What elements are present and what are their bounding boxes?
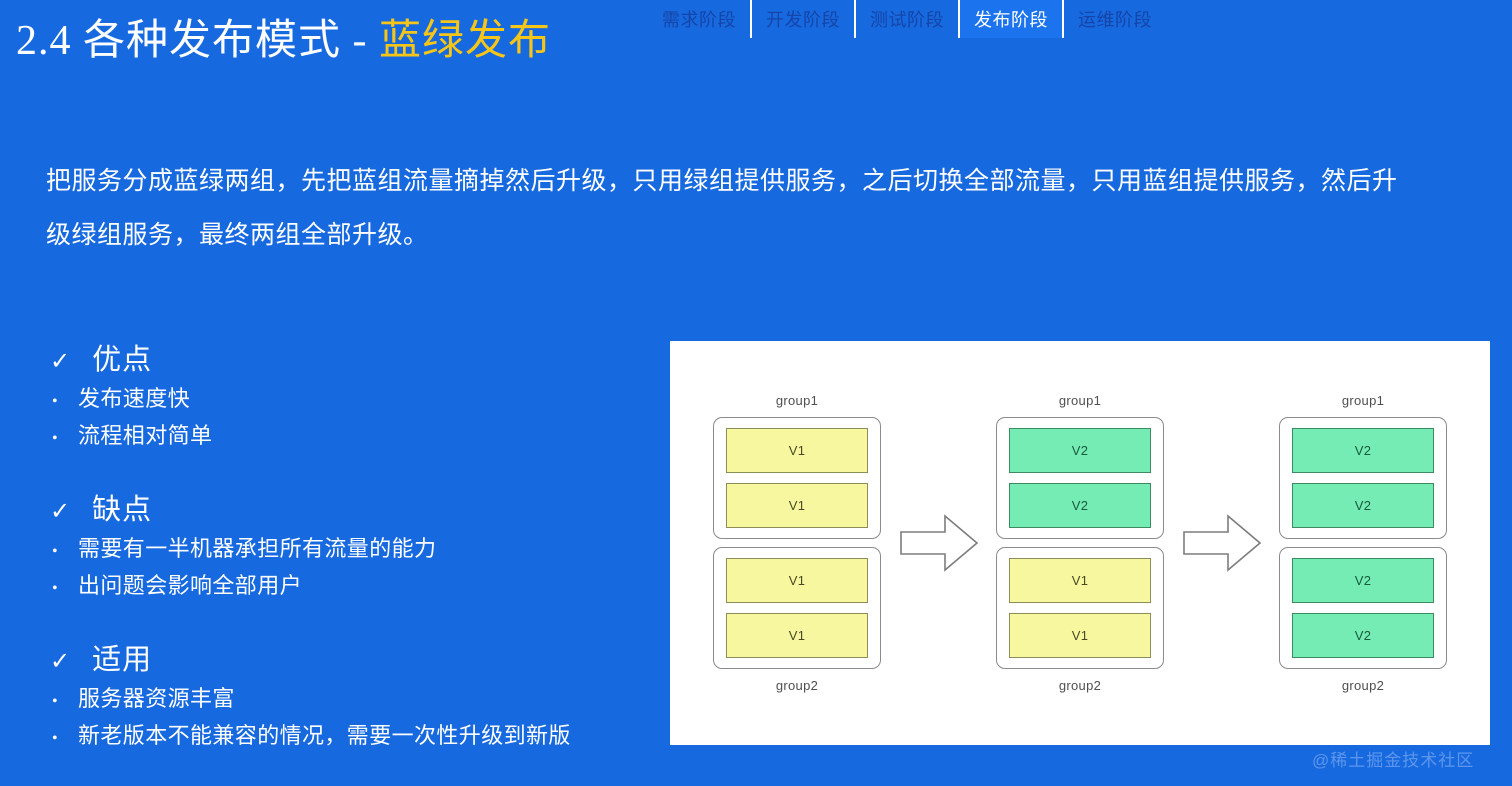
service-node: V1: [726, 483, 868, 528]
flow-arrow-1: [896, 512, 982, 574]
service-node: V2: [1292, 483, 1434, 528]
arrow-right-icon: [1182, 512, 1262, 574]
list-item: • 出问题会影响全部用户: [50, 571, 436, 604]
nav-tab-label: 开发阶段: [766, 6, 840, 32]
section-title: 适用: [92, 636, 152, 678]
group2-box: V2 V2: [1279, 547, 1447, 669]
diagram-stage-2: group1 V2 V2 V1 V1 group2: [987, 393, 1173, 693]
bullet-list: • 服务器资源丰富 • 新老版本不能兼容的情况，需要一次性升级到新版: [50, 684, 571, 754]
slide-root: 需求阶段 开发阶段 测试阶段 发布阶段 运维阶段 2.4 各种发布模式 - 蓝绿…: [0, 0, 1512, 786]
list-item-label: 需要有一半机器承担所有流量的能力: [78, 534, 436, 564]
bullet-icon: •: [50, 687, 60, 717]
nav-tab-operations[interactable]: 运维阶段: [1064, 0, 1166, 38]
nav-tab-label: 运维阶段: [1078, 6, 1152, 32]
list-item-label: 新老版本不能兼容的情况，需要一次性升级到新版: [78, 721, 571, 751]
service-node: V2: [1009, 428, 1151, 473]
list-item: • 新老版本不能兼容的情况，需要一次性升级到新版: [50, 721, 571, 754]
group-label-top: group1: [776, 393, 818, 408]
group1-box: V1 V1: [713, 417, 881, 539]
group1-box: V2 V2: [996, 417, 1164, 539]
group2-box: V1 V1: [996, 547, 1164, 669]
arrow-right-icon: [899, 512, 979, 574]
group-label-bottom: group2: [1059, 678, 1101, 693]
check-icon: ✓: [50, 649, 70, 673]
title-main: 各种发布模式: [83, 18, 341, 64]
nav-tab-requirements[interactable]: 需求阶段: [648, 0, 750, 38]
service-node: V2: [1292, 613, 1434, 658]
service-node: V2: [1292, 428, 1434, 473]
page-title: 2.4 各种发布模式 - 蓝绿发布: [16, 6, 551, 67]
group2-box: V1 V1: [713, 547, 881, 669]
bullet-icon: •: [50, 574, 60, 604]
list-item: • 发布速度快: [50, 384, 212, 417]
section-title: 缺点: [92, 486, 152, 528]
intro-paragraph: 把服务分成蓝绿两组，先把蓝组流量摘掉然后升级，只用绿组提供服务，之后切换全部流量…: [46, 155, 1406, 263]
diagram-stage-1: group1 V1 V1 V1 V1 group2: [704, 393, 890, 693]
list-item: • 流程相对简单: [50, 421, 212, 454]
check-icon: ✓: [50, 349, 70, 373]
diagram-stages: group1 V1 V1 V1 V1 group2: [670, 341, 1490, 745]
check-icon: ✓: [50, 499, 70, 523]
nav-tab-development[interactable]: 开发阶段: [752, 0, 854, 38]
service-node: V1: [726, 558, 868, 603]
list-item-label: 流程相对简单: [78, 421, 212, 451]
title-dash: -: [353, 18, 368, 64]
section-disadvantages: ✓ 缺点 • 需要有一半机器承担所有流量的能力 • 出问题会影响全部用户: [50, 486, 436, 604]
nav-tab-label: 发布阶段: [974, 6, 1048, 32]
service-node: V1: [726, 428, 868, 473]
list-item-label: 服务器资源丰富: [78, 684, 235, 714]
flow-arrow-2: [1179, 512, 1265, 574]
section-header: ✓ 缺点: [50, 486, 436, 528]
group-label-top: group1: [1342, 393, 1384, 408]
stage-navigation: 需求阶段 开发阶段 测试阶段 发布阶段 运维阶段: [648, 0, 1166, 38]
list-item-label: 出问题会影响全部用户: [78, 571, 302, 601]
bullet-list: • 发布速度快 • 流程相对简单: [50, 384, 212, 454]
list-item-label: 发布速度快: [78, 384, 190, 414]
section-advantages: ✓ 优点 • 发布速度快 • 流程相对简单: [50, 336, 212, 454]
list-item: • 需要有一半机器承担所有流量的能力: [50, 534, 436, 567]
blue-green-diagram-panel: group1 V1 V1 V1 V1 group2: [670, 341, 1490, 745]
service-node: V2: [1292, 558, 1434, 603]
bullet-list: • 需要有一半机器承担所有流量的能力 • 出问题会影响全部用户: [50, 534, 436, 604]
nav-tab-release[interactable]: 发布阶段: [960, 0, 1062, 38]
service-node: V1: [726, 613, 868, 658]
nav-tab-testing[interactable]: 测试阶段: [856, 0, 958, 38]
section-title: 优点: [92, 336, 152, 378]
group-label-bottom: group2: [776, 678, 818, 693]
bullet-icon: •: [50, 424, 60, 454]
section-header: ✓ 适用: [50, 636, 571, 678]
service-node: V1: [1009, 558, 1151, 603]
section-header: ✓ 优点: [50, 336, 212, 378]
service-node: V2: [1009, 483, 1151, 528]
nav-tab-label: 需求阶段: [662, 6, 736, 32]
watermark: @稀土掘金技术社区: [1312, 746, 1474, 771]
bullet-icon: •: [50, 724, 60, 754]
title-number: 2.4: [16, 18, 72, 64]
bullet-icon: •: [50, 537, 60, 567]
group-label-bottom: group2: [1342, 678, 1384, 693]
group1-box: V2 V2: [1279, 417, 1447, 539]
nav-tab-label: 测试阶段: [870, 6, 944, 32]
service-node: V1: [1009, 613, 1151, 658]
group-label-top: group1: [1059, 393, 1101, 408]
title-accent: 蓝绿发布: [379, 18, 551, 64]
bullet-icon: •: [50, 387, 60, 417]
diagram-stage-3: group1 V2 V2 V2 V2 group2: [1270, 393, 1456, 693]
list-item: • 服务器资源丰富: [50, 684, 571, 717]
section-applicable: ✓ 适用 • 服务器资源丰富 • 新老版本不能兼容的情况，需要一次性升级到新版: [50, 636, 571, 754]
